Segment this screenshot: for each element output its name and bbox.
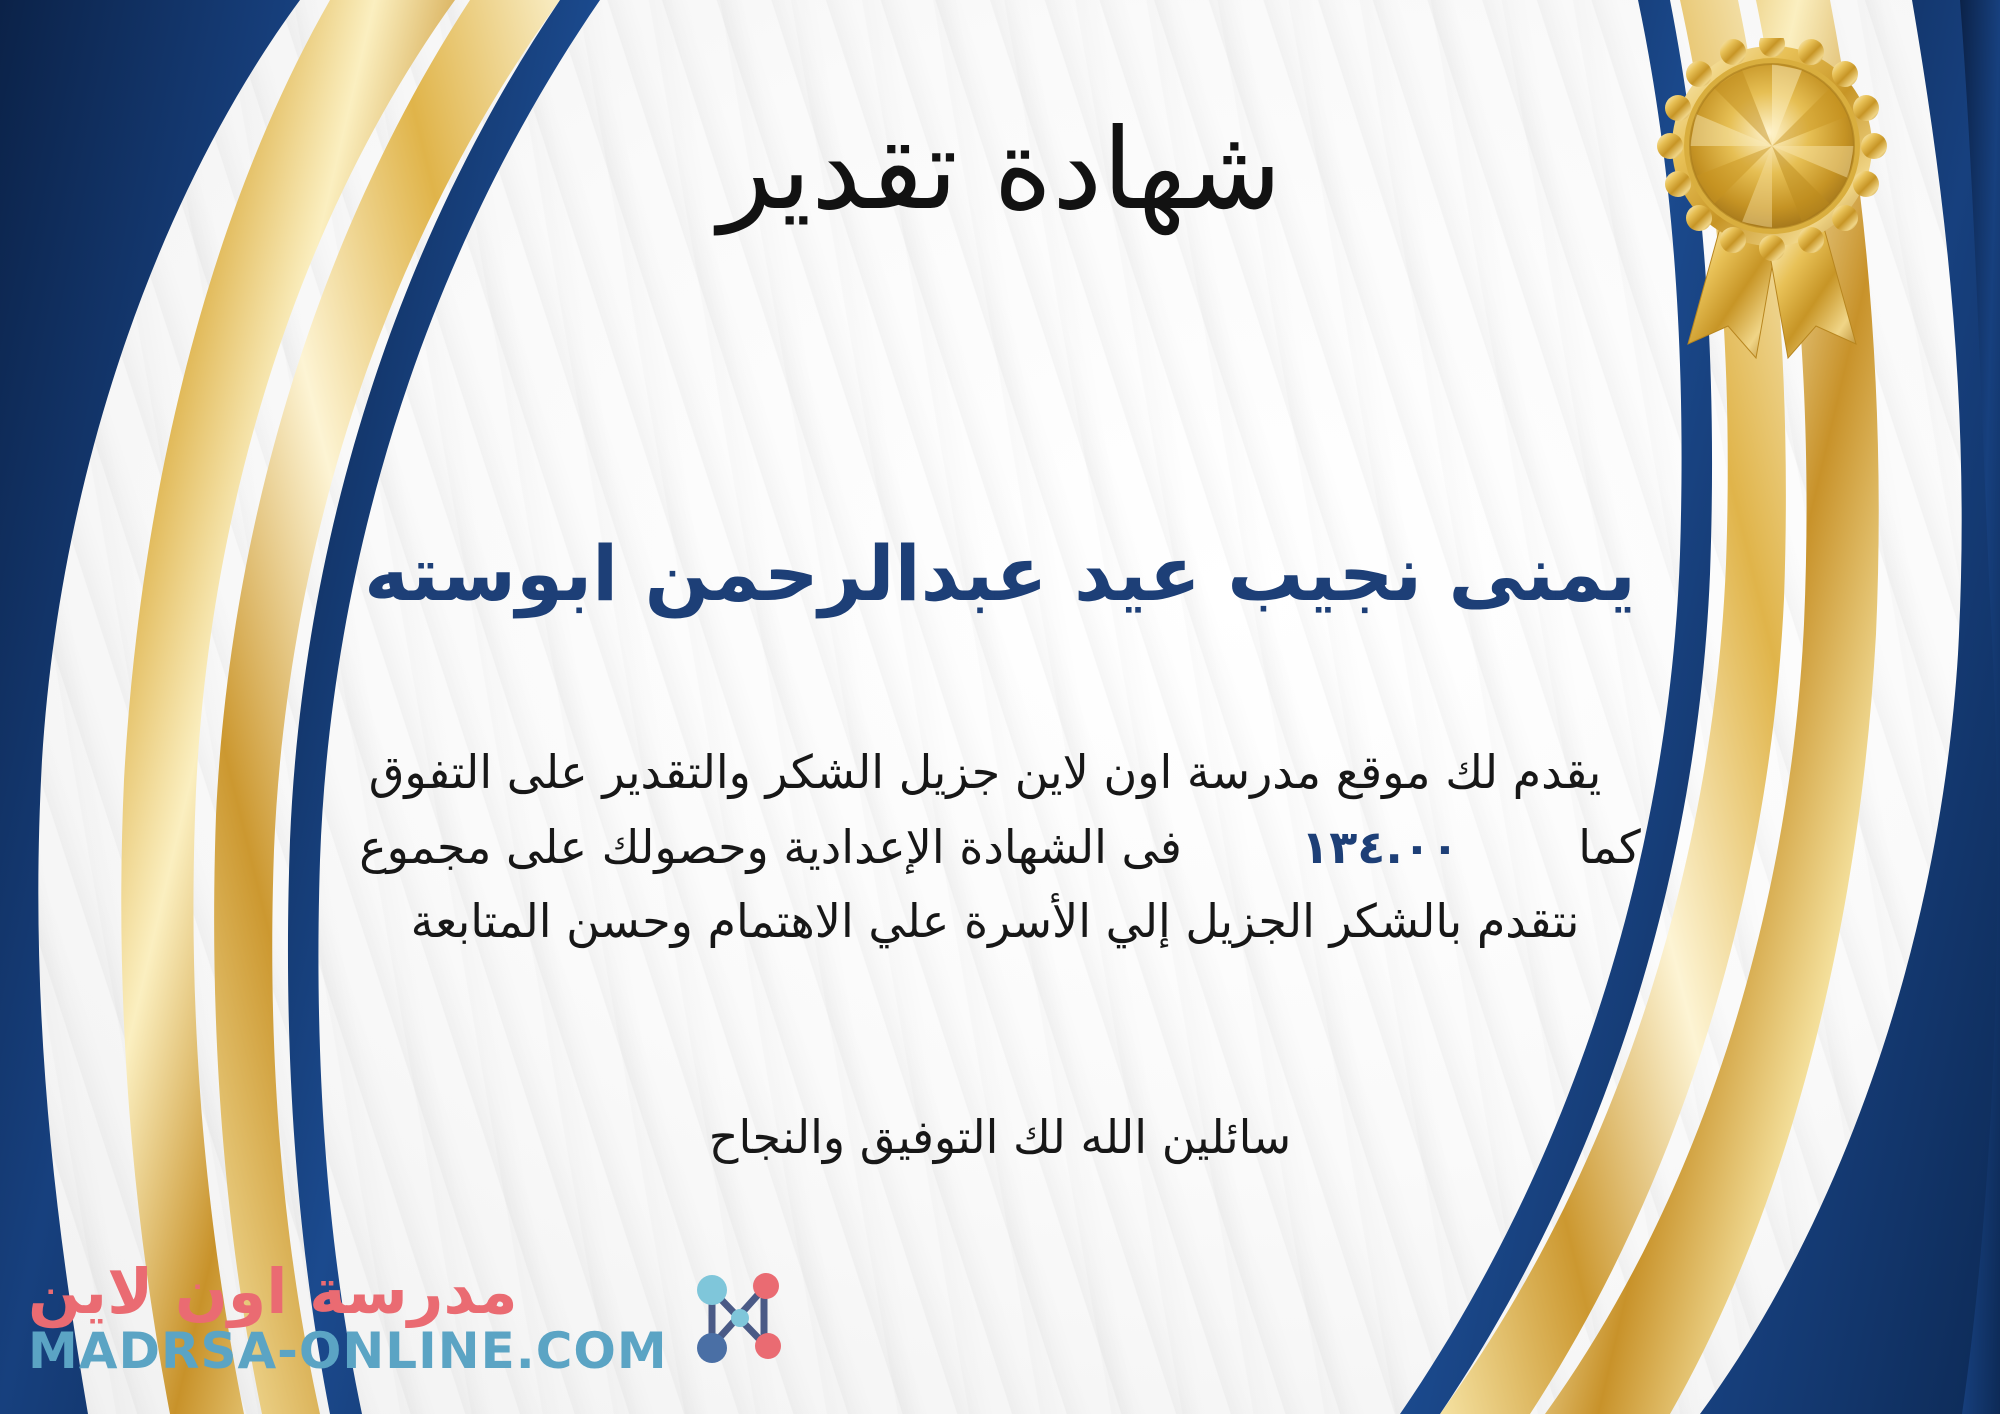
body-line-2: كما ١٣٤.٠٠ فى الشهادة الإعدادية وحصولك ع… <box>60 810 1940 885</box>
recipient-name: يمنى نجيب عيد عبدالرحمن ابوسته <box>0 530 2000 617</box>
closing-line: سائلين الله لك التوفيق والنجاح <box>0 1110 2000 1164</box>
certificate-body: يقدم لك موقع مدرسة اون لاين جزيل الشكر و… <box>60 735 1940 959</box>
body-line-3: نتقدم بالشكر الجزيل إلي الأسرة علي الاهت… <box>60 884 1940 959</box>
network-nodes-icon <box>682 1260 794 1378</box>
certificate-canvas: شهادة تقدير يمنى نجيب عيد عبدالرحمن ابوس… <box>0 0 2000 1414</box>
body-line-2-prefix: فى الشهادة الإعدادية وحصولك على مجموع <box>359 820 1182 874</box>
page-title: شهادة تقدير <box>0 112 2000 230</box>
brand-logo[interactable]: مدرسة اون لاين MADRSA-ONLINE.COM <box>28 1260 794 1378</box>
grade-value: ١٣٤.٠٠ <box>1275 810 1485 885</box>
body-line-2-suffix: كما <box>1578 820 1641 874</box>
body-line-1: يقدم لك موقع مدرسة اون لاين جزيل الشكر و… <box>60 735 1940 810</box>
brand-name-english: MADRSA-ONLINE.COM <box>28 1325 668 1378</box>
brand-text: مدرسة اون لاين MADRSA-ONLINE.COM <box>28 1260 668 1378</box>
brand-name-arabic: مدرسة اون لاين <box>28 1260 518 1323</box>
